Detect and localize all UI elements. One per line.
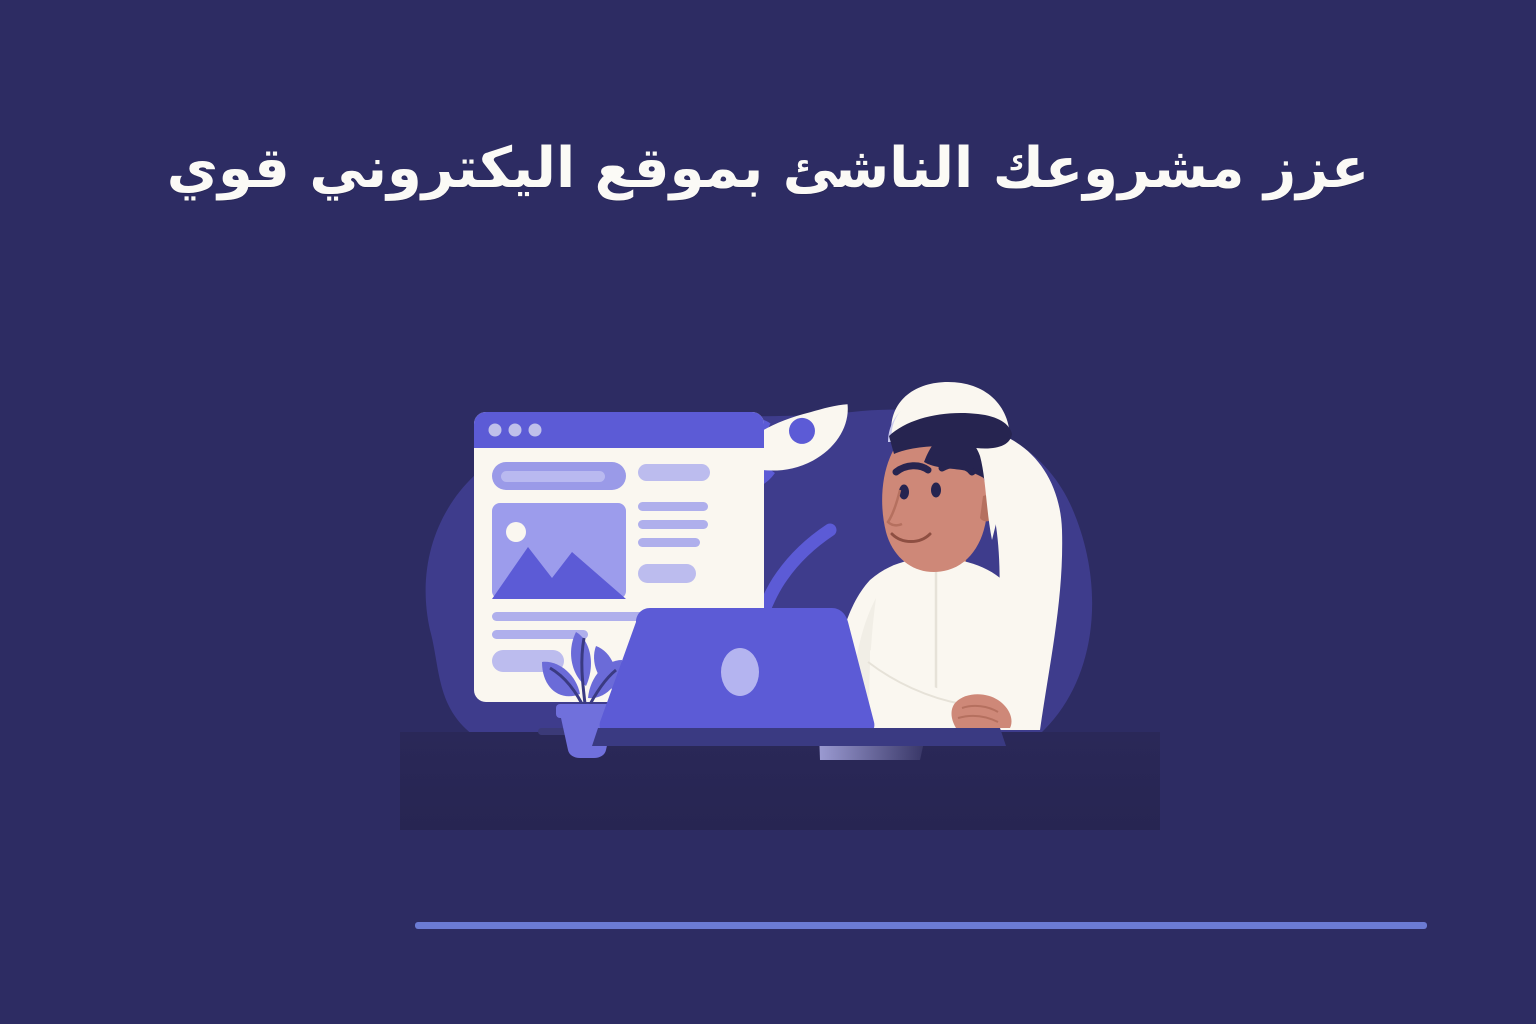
- sidebar-text-line: [638, 520, 708, 529]
- laptop-logo: [721, 648, 759, 696]
- sidebar-block-top: [638, 464, 710, 481]
- illustration-svg: [400, 330, 1160, 830]
- page-title: عزز مشروعك الناشئ بموقع اليكتروني قوي: [0, 134, 1536, 204]
- eye-right: [931, 483, 941, 498]
- brand-logo[interactable]: Musaab: [108, 862, 408, 972]
- laptop-base: [592, 728, 1006, 746]
- divider-line: [415, 922, 1427, 929]
- browser-dot-red[interactable]: [489, 424, 502, 437]
- body-text-line: [492, 630, 588, 639]
- browser-dot-yellow[interactable]: [509, 424, 522, 437]
- browser-dot-green[interactable]: [529, 424, 542, 437]
- hero-sun-icon: [506, 522, 526, 542]
- banner-canvas: عزز مشروعك الناشئ بموقع اليكتروني قوي: [0, 0, 1536, 1024]
- search-bar-inner-placeholder: [501, 471, 605, 482]
- musaab-wordmark: Musaab: [108, 862, 408, 972]
- sidebar-cta-button[interactable]: [638, 564, 696, 583]
- sidebar-text-line: [638, 502, 708, 511]
- sidebar-text-line: [638, 538, 700, 547]
- brand-name-text: Musaab: [108, 868, 111, 958]
- hero-illustration: [400, 330, 1160, 830]
- footer: Musaab: [0, 844, 1536, 1024]
